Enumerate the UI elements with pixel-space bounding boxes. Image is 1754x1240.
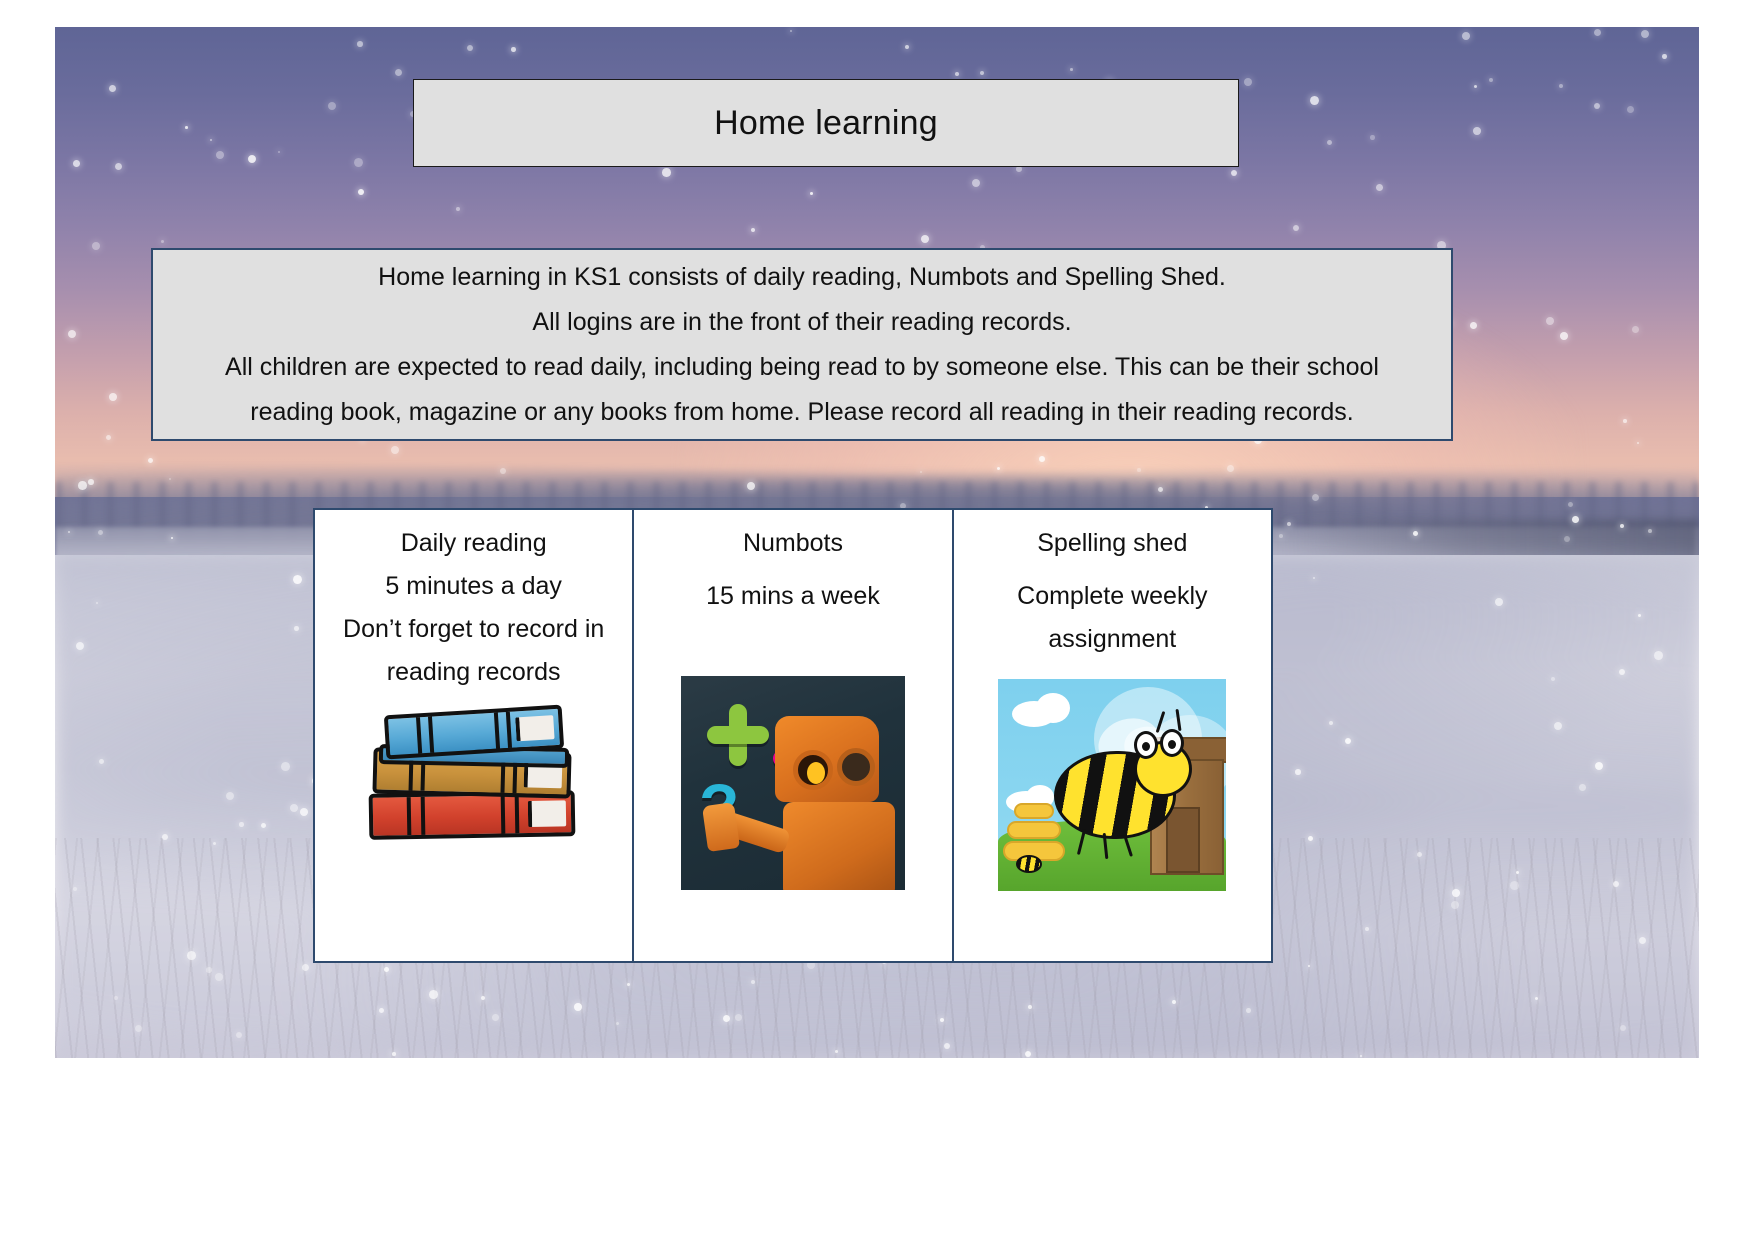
plus-icon — [707, 704, 769, 766]
numbots-tile: ? — [681, 676, 905, 890]
activities-table: Daily reading 5 minutes a day Don’t forg… — [313, 508, 1273, 963]
book-band — [500, 795, 505, 833]
info-line-3: All children are expected to read daily,… — [225, 345, 1379, 390]
numbots-robot-logo-image: ? — [681, 676, 905, 890]
card-numbots-text: Numbots 15 mins a week — [700, 522, 886, 618]
card-line: 5 minutes a day — [343, 565, 604, 608]
robot-eye-right — [837, 748, 875, 786]
poster-page: Home learning Home learning in KS1 consi… — [0, 0, 1754, 1240]
book-band — [420, 797, 425, 835]
card-heading: Daily reading — [343, 522, 604, 565]
robot-pupil — [807, 762, 825, 784]
card-heading: Numbots — [706, 522, 880, 565]
card-line: assignment — [1017, 618, 1207, 661]
info-line-4: reading book, magazine or any books from… — [250, 390, 1353, 435]
book-pages — [527, 800, 565, 827]
robot-hand — [702, 802, 740, 852]
book-band — [514, 795, 519, 833]
card-spelling-shed-text: Spelling shed Complete weekly assignment — [1011, 522, 1213, 661]
robot-eye-left — [793, 750, 833, 790]
book-pages — [515, 715, 554, 741]
spelling-shed-bee-logo-image — [998, 679, 1226, 891]
stack-of-books-image — [367, 710, 581, 840]
book-band — [428, 717, 434, 753]
info-box: Home learning in KS1 consists of daily r… — [151, 248, 1453, 441]
card-heading: Spelling shed — [1017, 522, 1207, 565]
book-band — [505, 712, 511, 748]
bee-mascot — [1046, 737, 1186, 845]
page-title: Home learning — [714, 104, 938, 143]
book-band — [416, 717, 422, 753]
books-illustration — [367, 710, 581, 840]
card-spelling-shed: Spelling shed Complete weekly assignment — [952, 510, 1271, 961]
card-daily-reading: Daily reading 5 minutes a day Don’t forg… — [315, 510, 632, 961]
book-band — [494, 713, 500, 749]
info-line-1: Home learning in KS1 consists of daily r… — [378, 255, 1226, 300]
spelling-shed-tile — [998, 679, 1226, 891]
cloud-icon — [1036, 693, 1070, 723]
robot-figure — [767, 706, 905, 890]
card-line: reading records — [343, 651, 604, 694]
card-line: Don’t forget to record in — [343, 608, 604, 651]
card-line: Complete weekly — [1017, 575, 1207, 618]
title-box: Home learning — [413, 79, 1239, 167]
card-numbots: Numbots 15 mins a week ? — [632, 510, 951, 961]
robot-head — [775, 716, 879, 802]
info-line-2: All logins are in the front of their rea… — [532, 300, 1071, 345]
card-daily-reading-text: Daily reading 5 minutes a day Don’t forg… — [337, 522, 610, 694]
card-line: 15 mins a week — [706, 575, 880, 618]
book-band — [406, 797, 411, 835]
robot-body — [783, 802, 895, 890]
